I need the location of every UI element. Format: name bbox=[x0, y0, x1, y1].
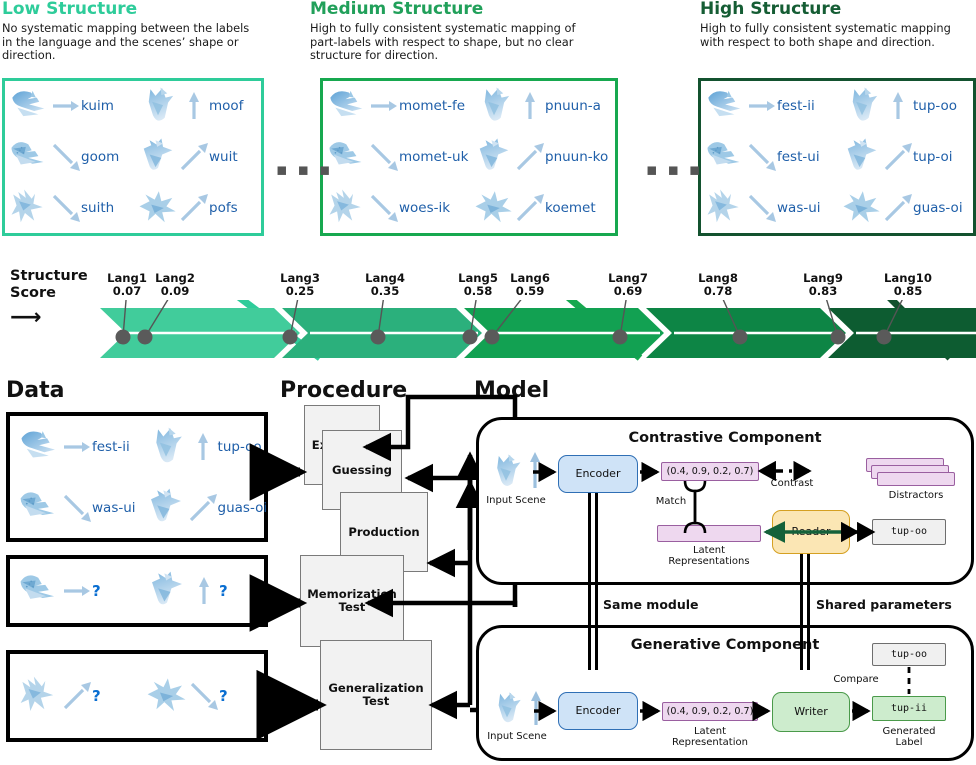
reader-node[interactable]: Reader bbox=[772, 510, 850, 554]
direction-arrow-up-right bbox=[179, 193, 209, 223]
section-description: High to fully consistent systematic mapp… bbox=[310, 22, 606, 63]
direction-arrow-down-right bbox=[747, 142, 777, 172]
separator-left: ▪ ▪ ▪ bbox=[276, 160, 332, 180]
scene-blob bbox=[145, 569, 189, 613]
scene-item: tup-oo bbox=[837, 81, 973, 132]
scene-blob bbox=[9, 187, 51, 229]
scene-blob bbox=[137, 85, 179, 127]
direction-arrow-up bbox=[179, 91, 209, 121]
lang-tag-lang2: Lang2 0.09 bbox=[147, 272, 203, 298]
generated-label-box: tup-ii bbox=[872, 696, 946, 721]
direction-arrow-right bbox=[62, 576, 92, 606]
contrastive-scene-thumb bbox=[486, 452, 530, 492]
exposure-data-panel: fest-ii tup-oo was-ui guas-oi bbox=[6, 412, 268, 542]
direction-arrow-up-right bbox=[515, 193, 545, 223]
scene-blob bbox=[841, 187, 883, 229]
lang-score: 0.59 bbox=[502, 285, 558, 298]
scene-blob bbox=[145, 674, 189, 718]
scene-label: kuim bbox=[81, 98, 114, 114]
scene-blob bbox=[705, 136, 747, 178]
scene-blob bbox=[18, 486, 62, 530]
scene-label: tup-oo bbox=[913, 98, 957, 114]
scene-blob bbox=[841, 85, 883, 127]
lang-tag-lang8: Lang8 0.78 bbox=[690, 272, 746, 298]
memorization-data-panel: ? ? bbox=[6, 555, 268, 627]
data-scene-label: fest-ii bbox=[92, 439, 130, 455]
lang-dot-lang8[interactable] bbox=[733, 330, 748, 345]
lang-dot-lang3[interactable] bbox=[283, 330, 298, 345]
scene-blob bbox=[9, 85, 51, 127]
direction-arrow-down-right bbox=[189, 681, 219, 711]
scene-blob bbox=[9, 136, 51, 178]
scene-blob bbox=[18, 425, 62, 469]
section-description: High to fully consistent systematic mapp… bbox=[700, 22, 976, 49]
contrastive-encoder-node[interactable]: Encoder bbox=[558, 455, 638, 493]
section-description: No systematic mapping between the labels… bbox=[2, 22, 252, 63]
scene-label: pnuun-ko bbox=[545, 149, 608, 165]
distractors-caption: Distractors bbox=[856, 490, 976, 502]
contrastive-latent-caption-line2: Representations bbox=[650, 556, 768, 568]
data-scene-label: guas-oi bbox=[218, 500, 268, 516]
section-1-header: Medium Structure High to fully consisten… bbox=[310, 0, 606, 63]
scene-blob bbox=[144, 425, 188, 469]
scene-label: koemet bbox=[545, 200, 596, 216]
separator-right: ▪ ▪ ▪ bbox=[646, 160, 702, 180]
scene-blob bbox=[327, 136, 369, 178]
lang-dot-lang5[interactable] bbox=[463, 330, 478, 345]
scene-label: suith bbox=[81, 200, 114, 216]
section-2-scene-panel: fest-ii tup-oo fest-ui tup-oi was-ui gua… bbox=[698, 78, 976, 236]
data-scene-item: ? bbox=[10, 559, 137, 623]
scene-blob bbox=[473, 136, 515, 178]
direction-arrow-up-right bbox=[188, 493, 218, 523]
scene-label: moof bbox=[209, 98, 243, 114]
structure-score-chevron-bar bbox=[0, 300, 976, 370]
section-title: Low Structure bbox=[2, 0, 252, 19]
scene-blob bbox=[327, 85, 369, 127]
generative-latent-vector: (0.4, 0.9, 0.2, 0.7) bbox=[662, 702, 758, 721]
scene-label: momet-uk bbox=[399, 149, 468, 165]
same-module-label: Same module bbox=[603, 597, 699, 612]
same-module-line-left bbox=[588, 490, 591, 670]
heading-model: Model bbox=[474, 378, 549, 403]
data-scene-label: ? bbox=[219, 582, 228, 600]
section-0-header: Low Structure No systematic mapping betw… bbox=[2, 0, 252, 63]
lang-tag-lang5: Lang5 0.58 bbox=[450, 272, 506, 298]
scene-blob bbox=[137, 187, 179, 229]
lang-tag-lang6: Lang6 0.59 bbox=[502, 272, 558, 298]
direction-arrow-up-right bbox=[179, 142, 209, 172]
direction-arrow-right bbox=[51, 91, 81, 121]
direction-arrow-right bbox=[62, 432, 92, 462]
generated-label-caption-line2: Label bbox=[870, 737, 948, 749]
procedure-step-memorization-test[interactable]: Memorization Test bbox=[300, 555, 404, 647]
lang-tag-lang9: Lang9 0.83 bbox=[795, 272, 851, 298]
section-2-header: High Structure High to fully consistent … bbox=[700, 0, 976, 49]
lang-score: 0.58 bbox=[450, 285, 506, 298]
scene-label: pofs bbox=[209, 200, 238, 216]
scene-item: pnuun-a bbox=[469, 81, 615, 132]
generative-scene-thumb bbox=[488, 690, 530, 728]
section-title: High Structure bbox=[700, 0, 976, 19]
generative-target-label-box: tup-oo bbox=[872, 643, 946, 666]
scene-blob bbox=[18, 674, 62, 718]
direction-arrow-up-right bbox=[62, 681, 92, 711]
compare-label: Compare bbox=[828, 674, 884, 686]
scene-item: fest-ii bbox=[701, 81, 837, 132]
scene-label: wuit bbox=[209, 149, 238, 165]
scene-item: fest-ui bbox=[701, 132, 837, 183]
writer-node[interactable]: Writer bbox=[772, 692, 850, 732]
generative-latent-caption-line1: Latent bbox=[650, 726, 770, 738]
lang-score: 0.78 bbox=[690, 285, 746, 298]
lang-score: 0.35 bbox=[357, 285, 413, 298]
scene-label: tup-oi bbox=[913, 149, 953, 165]
lang-tag-lang10: Lang10 0.85 bbox=[880, 272, 936, 298]
direction-arrow-up-right bbox=[515, 142, 545, 172]
generative-scene-direction-arrow bbox=[529, 689, 543, 727]
lang-tag-lang7: Lang7 0.69 bbox=[600, 272, 656, 298]
scene-item: pnuun-ko bbox=[469, 132, 615, 183]
data-scene-item: ? bbox=[10, 654, 137, 738]
contrastive-contrast-label: Contrast bbox=[762, 478, 822, 490]
lang-dot-lang9[interactable] bbox=[831, 330, 846, 345]
same-module-line-right bbox=[595, 490, 598, 670]
data-scene-item: guas-oi bbox=[136, 477, 268, 538]
data-scene-item: fest-ii bbox=[10, 416, 136, 477]
scene-item: tup-oi bbox=[837, 132, 973, 183]
data-scene-label: ? bbox=[219, 687, 228, 705]
lang-score: 0.83 bbox=[795, 285, 851, 298]
data-scene-label: ? bbox=[92, 582, 101, 600]
generative-input-scene-caption: Input Scene bbox=[480, 731, 554, 743]
scene-label: fest-ui bbox=[777, 149, 820, 165]
lang-dot-lang2[interactable] bbox=[138, 330, 153, 345]
contrastive-input-scene-caption: Input Scene bbox=[480, 495, 552, 507]
contrastive-latent-representations-bar bbox=[657, 525, 761, 542]
scene-label: guas-oi bbox=[913, 200, 963, 216]
data-scene-item: was-ui bbox=[10, 477, 136, 538]
direction-arrow-up bbox=[189, 576, 219, 606]
generalization-data-panel: ? ? bbox=[6, 650, 268, 742]
data-scene-item: tup-oo bbox=[136, 416, 268, 477]
direction-arrow-right bbox=[369, 91, 399, 121]
scene-label: woes-ik bbox=[399, 200, 450, 216]
direction-arrow-up-right bbox=[883, 142, 913, 172]
contrastive-input-label-box: tup-oo bbox=[872, 519, 946, 545]
data-scene-label: tup-oo bbox=[218, 439, 262, 455]
scene-item: was-ui bbox=[701, 182, 837, 233]
scene-item: kuim bbox=[5, 81, 133, 132]
scene-item: pofs bbox=[133, 182, 261, 233]
data-scene-item: ? bbox=[137, 654, 264, 738]
shared-parameters-label: Shared parameters bbox=[816, 597, 952, 612]
scene-item: woes-ik bbox=[323, 182, 469, 233]
scene-blob bbox=[473, 85, 515, 127]
scene-label: pnuun-a bbox=[545, 98, 601, 114]
generative-encoder-node[interactable]: Encoder bbox=[558, 692, 638, 730]
heading-data: Data bbox=[6, 378, 64, 403]
direction-arrow-up-right bbox=[883, 193, 913, 223]
generative-latent-caption-line2: Representation bbox=[650, 737, 770, 749]
section-0-scene-panel: kuim moof goom wuit suith pofs bbox=[2, 78, 264, 236]
data-scene-label: ? bbox=[92, 687, 101, 705]
generated-label-caption-line1: Generated bbox=[870, 726, 948, 738]
scene-blob bbox=[473, 187, 515, 229]
direction-arrow-down-right bbox=[369, 142, 399, 172]
lang-tag-lang3: Lang3 0.25 bbox=[272, 272, 328, 298]
contrastive-match-label: Match bbox=[648, 496, 694, 508]
lang-score: 0.25 bbox=[272, 285, 328, 298]
scene-label: fest-ii bbox=[777, 98, 815, 114]
scene-item: moof bbox=[133, 81, 261, 132]
direction-arrow-right bbox=[747, 91, 777, 121]
scene-item: wuit bbox=[133, 132, 261, 183]
section-1-scene-panel: momet-fe pnuun-a momet-uk pnuun-ko woes-… bbox=[320, 78, 618, 236]
direction-arrow-down-right bbox=[51, 142, 81, 172]
structure-score-label-line1: Structure bbox=[10, 268, 105, 285]
procedure-step-generalization-test[interactable]: Generalization Test bbox=[320, 640, 432, 750]
scene-blob bbox=[841, 136, 883, 178]
scene-blob bbox=[705, 85, 747, 127]
lang-dot-lang7[interactable] bbox=[613, 330, 628, 345]
scene-blob bbox=[705, 187, 747, 229]
scene-blob bbox=[137, 136, 179, 178]
lang-dot-lang1[interactable] bbox=[116, 330, 131, 345]
scene-blob bbox=[18, 569, 62, 613]
data-scene-label: was-ui bbox=[92, 500, 136, 516]
contrastive-component-title: Contrastive Component bbox=[479, 430, 971, 446]
contrastive-latent-caption-line1: Latent bbox=[650, 545, 768, 557]
direction-arrow-down-right bbox=[747, 193, 777, 223]
direction-arrow-up bbox=[515, 91, 545, 121]
direction-arrow-down-right bbox=[62, 493, 92, 523]
scene-item: guas-oi bbox=[837, 182, 973, 233]
scene-item: momet-fe bbox=[323, 81, 469, 132]
lang-score: 0.85 bbox=[880, 285, 936, 298]
scene-label: was-ui bbox=[777, 200, 821, 216]
lang-dot-lang10[interactable] bbox=[877, 330, 892, 345]
contrastive-scene-direction-arrow bbox=[528, 450, 542, 490]
scene-blob bbox=[327, 187, 369, 229]
lang-dot-lang6[interactable] bbox=[485, 330, 500, 345]
lang-dot-lang4[interactable] bbox=[371, 330, 386, 345]
direction-arrow-up bbox=[188, 432, 218, 462]
contrastive-latent-vector: (0.4, 0.9, 0.2, 0.7) bbox=[661, 462, 759, 481]
scene-blob bbox=[144, 486, 188, 530]
direction-arrow-down-right bbox=[51, 193, 81, 223]
scene-label: momet-fe bbox=[399, 98, 465, 114]
section-title: Medium Structure bbox=[310, 0, 606, 19]
lang-score: 0.09 bbox=[147, 285, 203, 298]
lang-score: 0.69 bbox=[600, 285, 656, 298]
scene-item: goom bbox=[5, 132, 133, 183]
scene-item: momet-uk bbox=[323, 132, 469, 183]
scene-item: suith bbox=[5, 182, 133, 233]
lang-tag-lang4: Lang4 0.35 bbox=[357, 272, 413, 298]
direction-arrow-up bbox=[883, 91, 913, 121]
scene-item: koemet bbox=[469, 182, 615, 233]
direction-arrow-down-right bbox=[369, 193, 399, 223]
data-scene-item: ? bbox=[137, 559, 264, 623]
distractor-1 bbox=[877, 472, 955, 486]
heading-procedure: Procedure bbox=[280, 378, 407, 403]
scene-label: goom bbox=[81, 149, 119, 165]
